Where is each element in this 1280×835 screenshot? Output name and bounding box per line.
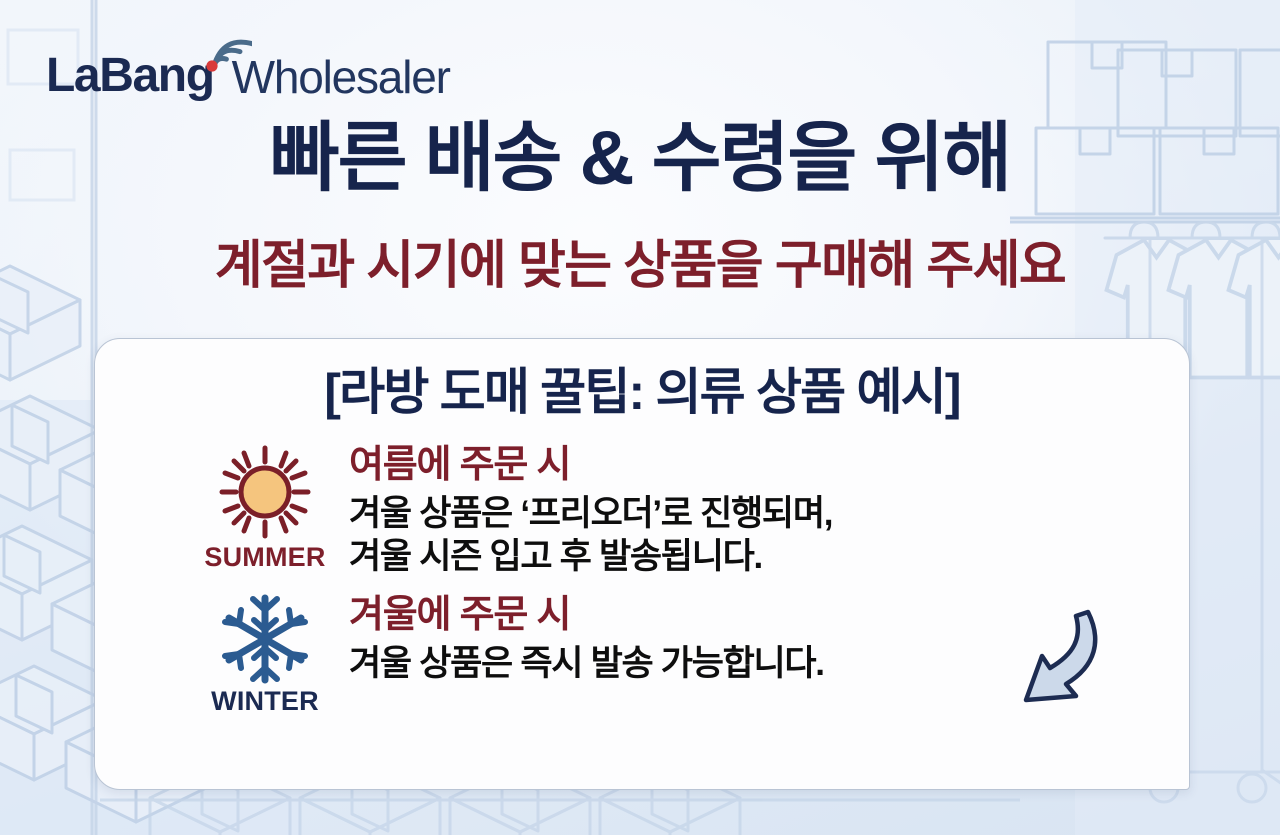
winter-body-line-1: 겨울 상품은 즉시 발송 가능합니다. bbox=[349, 642, 824, 685]
summer-text-column: 여름에 주문 시 겨울 상품은 ‘프리오더’로 진행되며, 겨울 시즌 입고 후… bbox=[349, 442, 832, 578]
sun-icon bbox=[213, 442, 317, 542]
season-row-winter: WINTER 겨울에 주문 시 겨울 상품은 즉시 발송 가능합니다. bbox=[95, 592, 1189, 715]
season-row-summer: SUMMER 여름에 주문 시 겨울 상품은 ‘프리오더’로 진행되며, 겨울 … bbox=[95, 442, 1189, 578]
summer-body-line-1: 겨울 상품은 ‘프리오더’로 진행되며, bbox=[349, 492, 832, 535]
wifi-signal-icon bbox=[198, 26, 252, 74]
brand-name-light: Wholesaler bbox=[232, 54, 450, 100]
summer-label: SUMMER bbox=[204, 544, 325, 571]
winter-label: WINTER bbox=[211, 688, 319, 715]
page-subheadline: 계절과 시기에 맞는 상품을 구매해 주세요 bbox=[0, 238, 1280, 295]
summer-heading: 여름에 주문 시 bbox=[349, 444, 832, 488]
poster-canvas: LaBang Wholesaler 빠른 배송 & 수령을 위해 계절과 시기에… bbox=[0, 0, 1280, 835]
winter-icon-column: WINTER bbox=[181, 592, 349, 715]
summer-icon-column: SUMMER bbox=[181, 442, 349, 571]
winter-heading: 겨울에 주문 시 bbox=[349, 594, 824, 638]
winter-text-column: 겨울에 주문 시 겨울 상품은 즉시 발송 가능합니다. bbox=[349, 592, 824, 685]
summer-body: 겨울 상품은 ‘프리오더’로 진행되며, 겨울 시즌 입고 후 발송됩니다. bbox=[349, 492, 832, 579]
brand-name-bold: LaBang bbox=[46, 52, 214, 100]
winter-body: 겨울 상품은 즉시 발송 가능합니다. bbox=[349, 642, 824, 685]
wifi-icon-anchor bbox=[214, 52, 222, 100]
summer-body-line-2: 겨울 시즌 입고 후 발송됩니다. bbox=[349, 535, 832, 578]
tips-card: [라방 도매 꿀팁: 의류 상품 예시] bbox=[94, 338, 1190, 790]
card-title: [라방 도매 꿀팁: 의류 상품 예시] bbox=[95, 365, 1189, 420]
brand-logo: LaBang Wholesaler bbox=[46, 34, 450, 100]
page-headline: 빠른 배송 & 수령을 위해 bbox=[0, 118, 1280, 200]
snowflake-icon bbox=[217, 592, 313, 686]
